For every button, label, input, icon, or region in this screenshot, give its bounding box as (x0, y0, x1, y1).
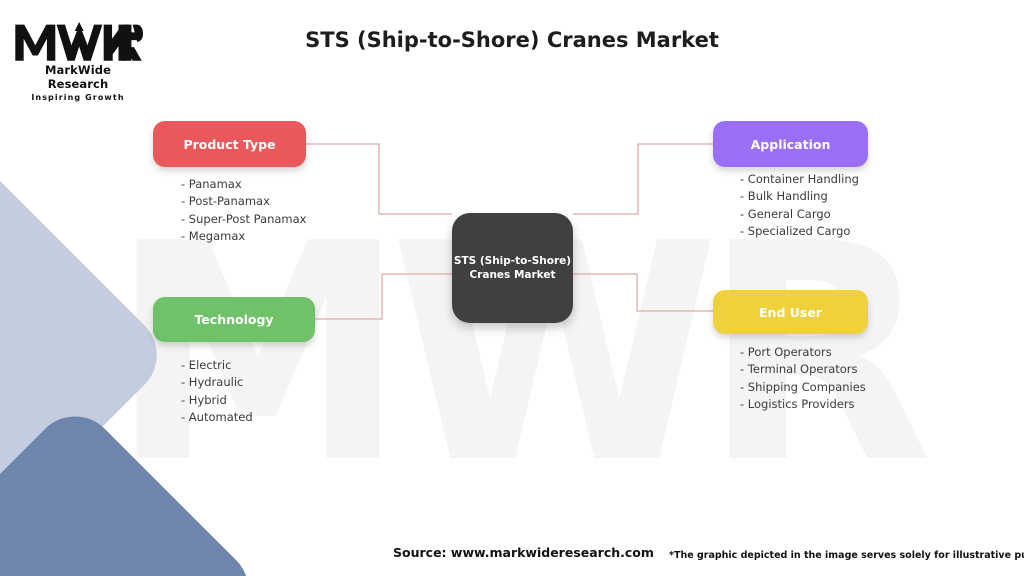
list-item: - Hydraulic (181, 374, 253, 391)
list-item: - Super-Post Panamax (181, 211, 306, 228)
connector-technology (315, 274, 452, 319)
connector-application (573, 144, 713, 214)
infographic-canvas: MWR MarkWide Research Inspiring Growth S… (0, 0, 1024, 576)
node-center-line2: Cranes Market (454, 268, 571, 282)
list-item: - Automated (181, 409, 253, 426)
list-application: - Container Handling - Bulk Handling - G… (740, 171, 859, 241)
list-item: - Logistics Providers (740, 396, 866, 413)
list-product-type: - Panamax - Post-Panamax - Super-Post Pa… (181, 176, 306, 246)
node-technology-label: Technology (194, 312, 273, 327)
node-center-market[interactable]: STS (Ship-to-Shore) Cranes Market (452, 213, 573, 323)
list-item: - Container Handling (740, 171, 859, 188)
connector-end-user (573, 274, 713, 311)
list-item: - Bulk Handling (740, 188, 859, 205)
node-technology[interactable]: Technology (153, 297, 315, 342)
list-item: - General Cargo (740, 206, 859, 223)
list-item: - Panamax (181, 176, 306, 193)
list-item: - Terminal Operators (740, 361, 866, 378)
disclaimer-note: *The graphic depicted in the image serve… (669, 550, 1024, 561)
node-product-type[interactable]: Product Type (153, 121, 306, 167)
node-application-label: Application (751, 137, 831, 152)
list-end-user: - Port Operators - Terminal Operators - … (740, 344, 866, 414)
list-technology: - Electric - Hydraulic - Hybrid - Automa… (181, 357, 253, 427)
list-item: - Megamax (181, 228, 306, 245)
list-item: - Port Operators (740, 344, 866, 361)
node-end-user-label: End User (759, 305, 822, 320)
list-item: - Specialized Cargo (740, 223, 859, 240)
list-item: - Electric (181, 357, 253, 374)
source-label: Source: www.markwideresearch.com (393, 545, 654, 560)
list-item: - Hybrid (181, 392, 253, 409)
node-center-line1: STS (Ship-to-Shore) (454, 254, 571, 268)
connector-product-type (306, 144, 452, 214)
list-item: - Post-Panamax (181, 193, 306, 210)
list-item: - Shipping Companies (740, 379, 866, 396)
node-application[interactable]: Application (713, 121, 868, 167)
node-end-user[interactable]: End User (713, 290, 868, 334)
node-product-type-label: Product Type (183, 137, 275, 152)
